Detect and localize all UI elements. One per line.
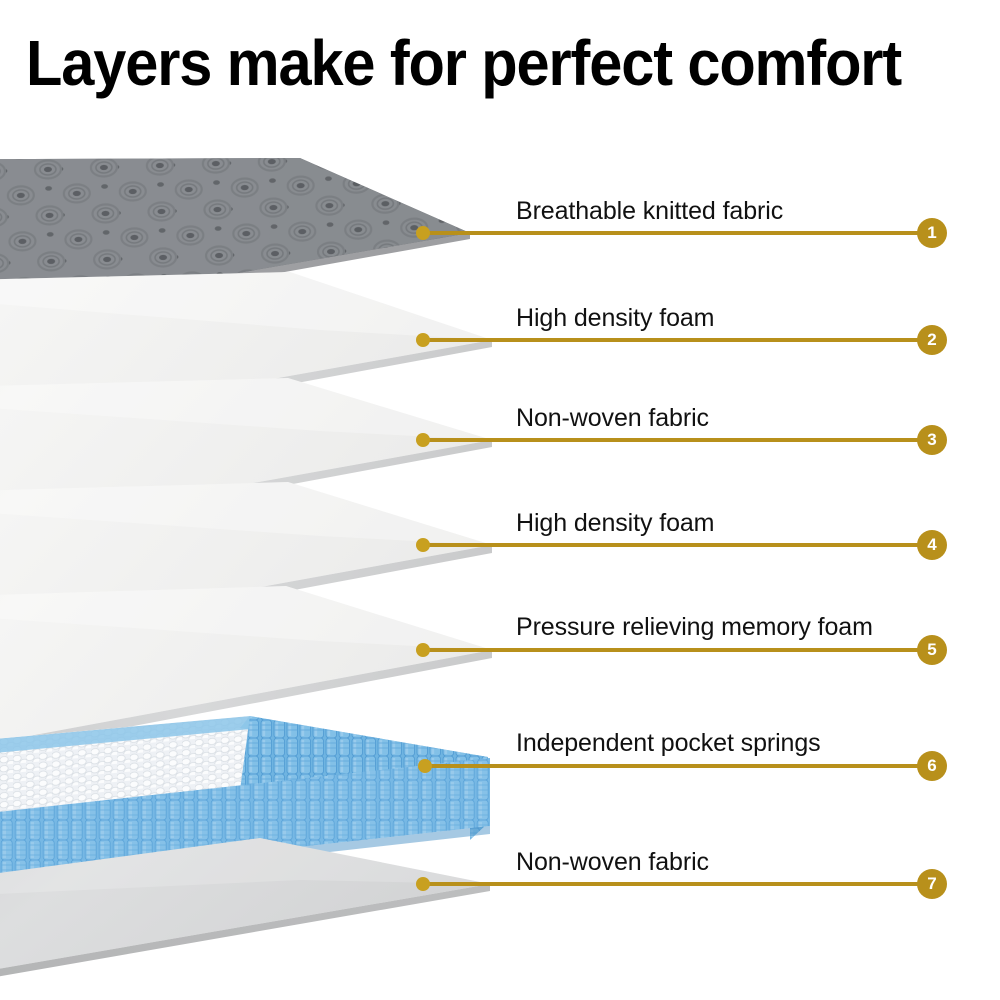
callout-badge-6[interactable]: 6: [917, 751, 947, 781]
callout-badge-5[interactable]: 5: [917, 635, 947, 665]
callout-label-4: High density foam: [516, 509, 714, 537]
callout-label-2: High density foam: [516, 304, 714, 332]
callout-badge-2[interactable]: 2: [917, 325, 947, 355]
infographic-canvas: Layers make for perfect comfort: [0, 0, 1000, 1000]
callout-badge-3[interactable]: 3: [917, 425, 947, 455]
callout-label-1: Breathable knitted fabric: [516, 197, 783, 225]
callout-badge-1[interactable]: 1: [917, 218, 947, 248]
mattress-layers-illustration: [0, 0, 1000, 1000]
callout-label-6: Independent pocket springs: [516, 729, 821, 757]
callout-label-5: Pressure relieving memory foam: [516, 613, 873, 641]
callout-badge-7[interactable]: 7: [917, 869, 947, 899]
callout-badge-4[interactable]: 4: [917, 530, 947, 560]
callout-label-3: Non-woven fabric: [516, 404, 709, 432]
callout-label-7: Non-woven fabric: [516, 848, 709, 876]
